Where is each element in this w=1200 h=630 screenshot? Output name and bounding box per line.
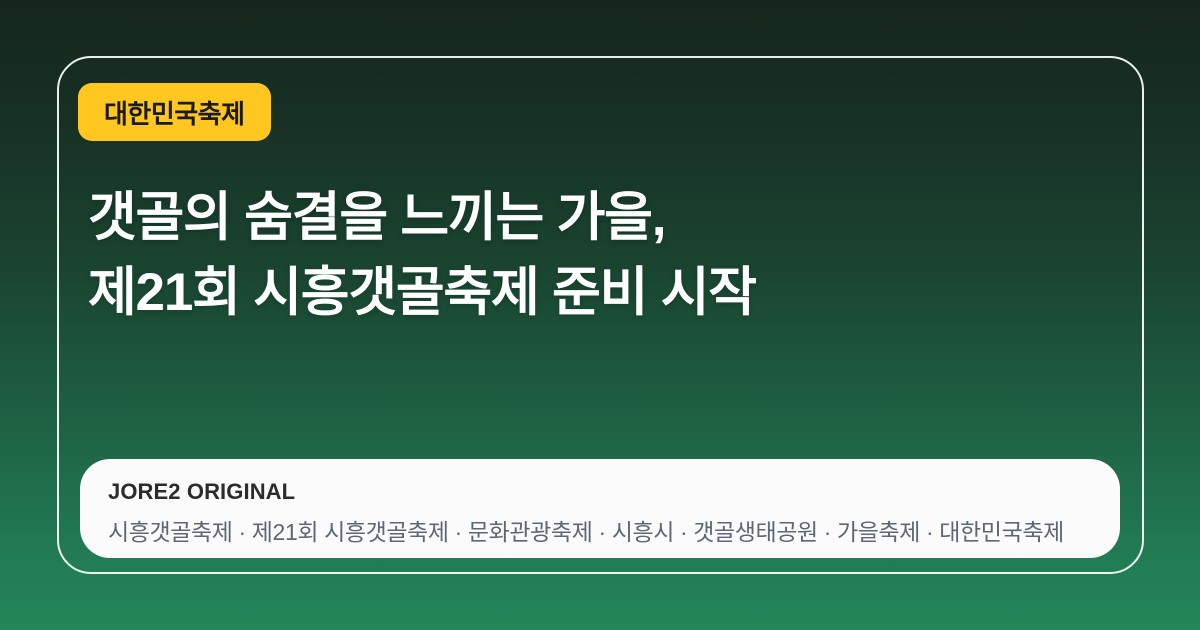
card-content: 대한민국축제 갯골의 숨결을 느끼는 가을, 제21회 시흥갯골축제 준비 시작… (0, 0, 1200, 630)
page-title: 갯골의 숨결을 느끼는 가을, 제21회 시흥갯골축제 준비 시작 (88, 180, 1108, 331)
brand-label: JORE2 ORIGINAL (108, 478, 1120, 506)
tag-list: 시흥갯골축제 · 제21회 시흥갯골축제 · 문화관광축제 · 시흥시 · 갯골… (108, 518, 1064, 548)
category-badge-label: 대한민국축제 (104, 94, 245, 131)
og-image-canvas: 대한민국축제 갯골의 숨결을 느끼는 가을, 제21회 시흥갯골축제 준비 시작… (0, 0, 1200, 630)
category-badge: 대한민국축제 (78, 83, 271, 141)
